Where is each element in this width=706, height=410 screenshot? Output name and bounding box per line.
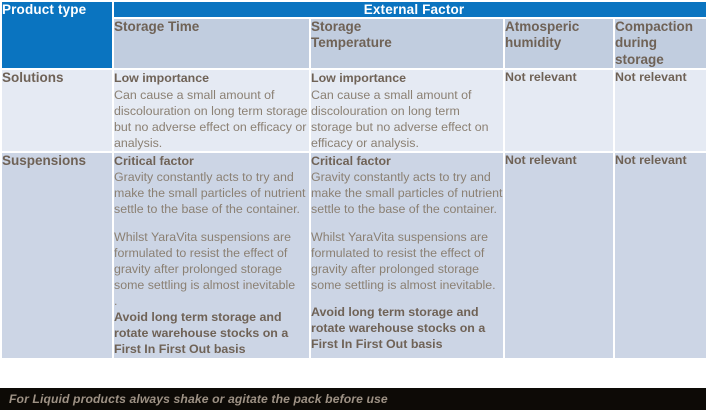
table-row: Solutions Low importance Can cause a sma… xyxy=(2,70,706,151)
cell-solutions-atmospheric-humidity: Not relevant xyxy=(505,70,613,151)
footer-note: For Liquid products always shake or agit… xyxy=(0,388,706,410)
cell-solutions-storage-time: Low importance Can cause a small amount … xyxy=(114,70,309,151)
cell-paragraph: Can cause a small amount of discolourati… xyxy=(114,87,309,152)
cell-lead: Critical factor xyxy=(311,153,503,169)
cell-solutions-compaction: Not relevant xyxy=(615,70,706,151)
header-storage-time: Storage Time xyxy=(114,19,309,68)
cell-paragraph: Gravity constantly acts to try and make … xyxy=(114,169,309,217)
cell-paragraph: Gravity constantly acts to try and make … xyxy=(311,169,503,217)
cell-paragraph-2: Whilst YaraVita suspensions are formulat… xyxy=(311,229,503,294)
header-product-type: Product type xyxy=(2,2,112,68)
cell-emphasis: Avoid long term storage and rotate wareh… xyxy=(114,309,309,357)
cell-suspensions-compaction: Not relevant xyxy=(615,153,706,358)
cell-spacer xyxy=(311,218,503,229)
storage-factors-table: Product type External Factor Storage Tim… xyxy=(0,0,706,360)
header-compaction-during-storage: Compactionduringstorage xyxy=(615,19,706,68)
cell-lead: Critical factor xyxy=(114,153,309,169)
header-atmospheric-humidity: Atmosperichumidity xyxy=(505,19,613,68)
cell-paragraph: Can cause a small amount of discolourati… xyxy=(311,87,503,152)
cell-emphasis: Avoid long term storage and rotate wareh… xyxy=(311,304,503,352)
row-label-solutions: Solutions xyxy=(2,70,112,151)
cell-solutions-storage-temperature: Low importance Can cause a small amount … xyxy=(311,70,503,151)
cell-paragraph-2-tail: . xyxy=(114,293,309,309)
cell-suspensions-storage-temperature: Critical factor Gravity constantly acts … xyxy=(311,153,503,358)
cell-suspensions-atmospheric-humidity: Not relevant xyxy=(505,153,613,358)
cell-spacer-2 xyxy=(311,293,503,304)
storage-factors-sheet: Product type External Factor Storage Tim… xyxy=(0,0,706,410)
row-label-suspensions: Suspensions xyxy=(2,153,112,358)
table-header-group-row: Product type External Factor xyxy=(2,2,706,17)
header-storage-temperature: StorageTemperature xyxy=(311,19,503,68)
cell-lead: Low importance xyxy=(311,70,503,86)
cell-suspensions-storage-time: Critical factor Gravity constantly acts … xyxy=(114,153,309,358)
cell-paragraph-2: Whilst YaraVita suspensions are formulat… xyxy=(114,229,309,294)
table-row: Suspensions Critical factor Gravity cons… xyxy=(2,153,706,358)
cell-spacer xyxy=(114,218,309,229)
header-external-factor: External Factor xyxy=(114,2,706,17)
cell-lead: Low importance xyxy=(114,70,309,86)
